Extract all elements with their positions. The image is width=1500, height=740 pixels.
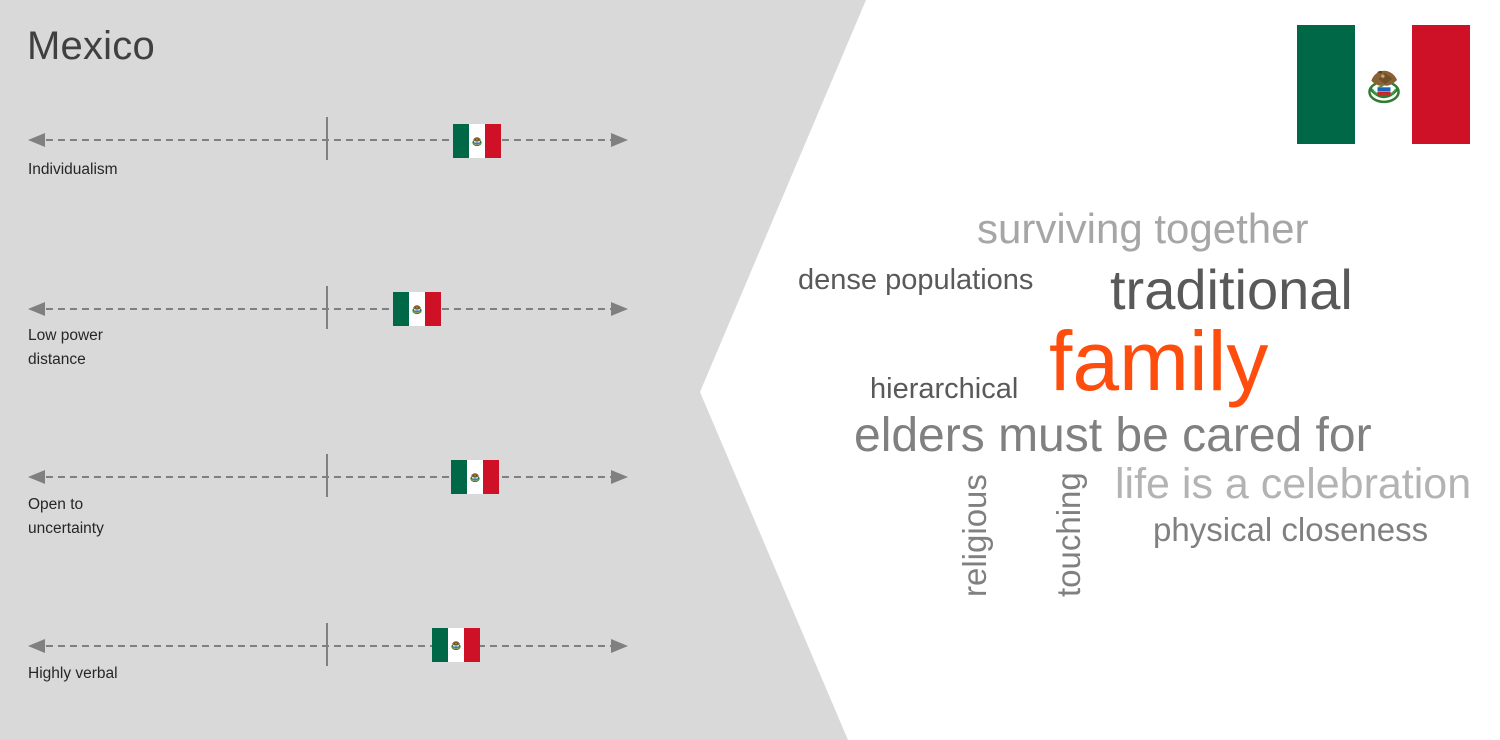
axis-arrow-right-icon [611,133,628,147]
word-cloud-item: surviving together [977,208,1309,250]
flag-band-green [453,124,469,158]
word-cloud: surviving together dense populations tra… [700,0,1500,740]
scale-verbal-symbolic: Highly verbal Highly symbolic [0,620,700,654]
slide-root: Mexico Individualism Collectivism [0,0,1500,740]
axis-arrow-left-icon [28,133,45,147]
flag-band-green [451,460,467,494]
word-cloud-item: hierarchical [870,375,1018,404]
word-cloud-item: elders must be cared for [854,412,1372,460]
axis-arrow-left-icon [28,639,45,653]
word-cloud-item: dense populations [798,266,1033,295]
word-cloud-item: physical closeness [1153,513,1428,546]
axis-arrow-right-icon [611,302,628,316]
flag-band-red [464,628,480,662]
mexico-flag-marker[interactable] [393,292,441,326]
mexico-flag-marker[interactable] [453,124,501,158]
flag-band-green [432,628,448,662]
mexican-coat-of-arms-icon [411,303,424,316]
scale-label-left: Open to uncertainty [28,493,104,540]
scale-power-distance: Low power distance High power distance [0,283,700,317]
axis-arrow-left-icon [28,470,45,484]
scale-individualism-collectivism: Individualism Collectivism [0,114,700,148]
flag-band-red [425,292,441,326]
mexico-flag-marker[interactable] [451,460,499,494]
mexico-flag-marker[interactable] [432,628,480,662]
scale-label-left: Highly verbal [28,662,118,686]
word-cloud-item: touching [1052,472,1085,597]
scale-label-left: Individualism [28,158,118,182]
mexican-coat-of-arms-icon [469,471,482,484]
word-cloud-item: family [1049,319,1268,403]
page-title: Mexico [27,20,155,72]
axis-arrow-left-icon [28,302,45,316]
flag-band-green [393,292,409,326]
flag-band-red [483,460,499,494]
word-cloud-item: traditional [1110,262,1353,318]
scale-uncertainty-avoidance: Open to uncertainty High uncertainty avo… [0,451,700,485]
axis-arrow-right-icon [611,639,628,653]
flag-band-red [485,124,501,158]
word-cloud-item: religious [958,474,991,597]
mexican-coat-of-arms-icon [450,639,463,652]
scale-label-left: Low power distance [28,324,103,371]
mexican-coat-of-arms-icon [471,135,484,148]
word-cloud-item: life is a celebration [1115,463,1471,506]
axis-arrow-right-icon [611,470,628,484]
